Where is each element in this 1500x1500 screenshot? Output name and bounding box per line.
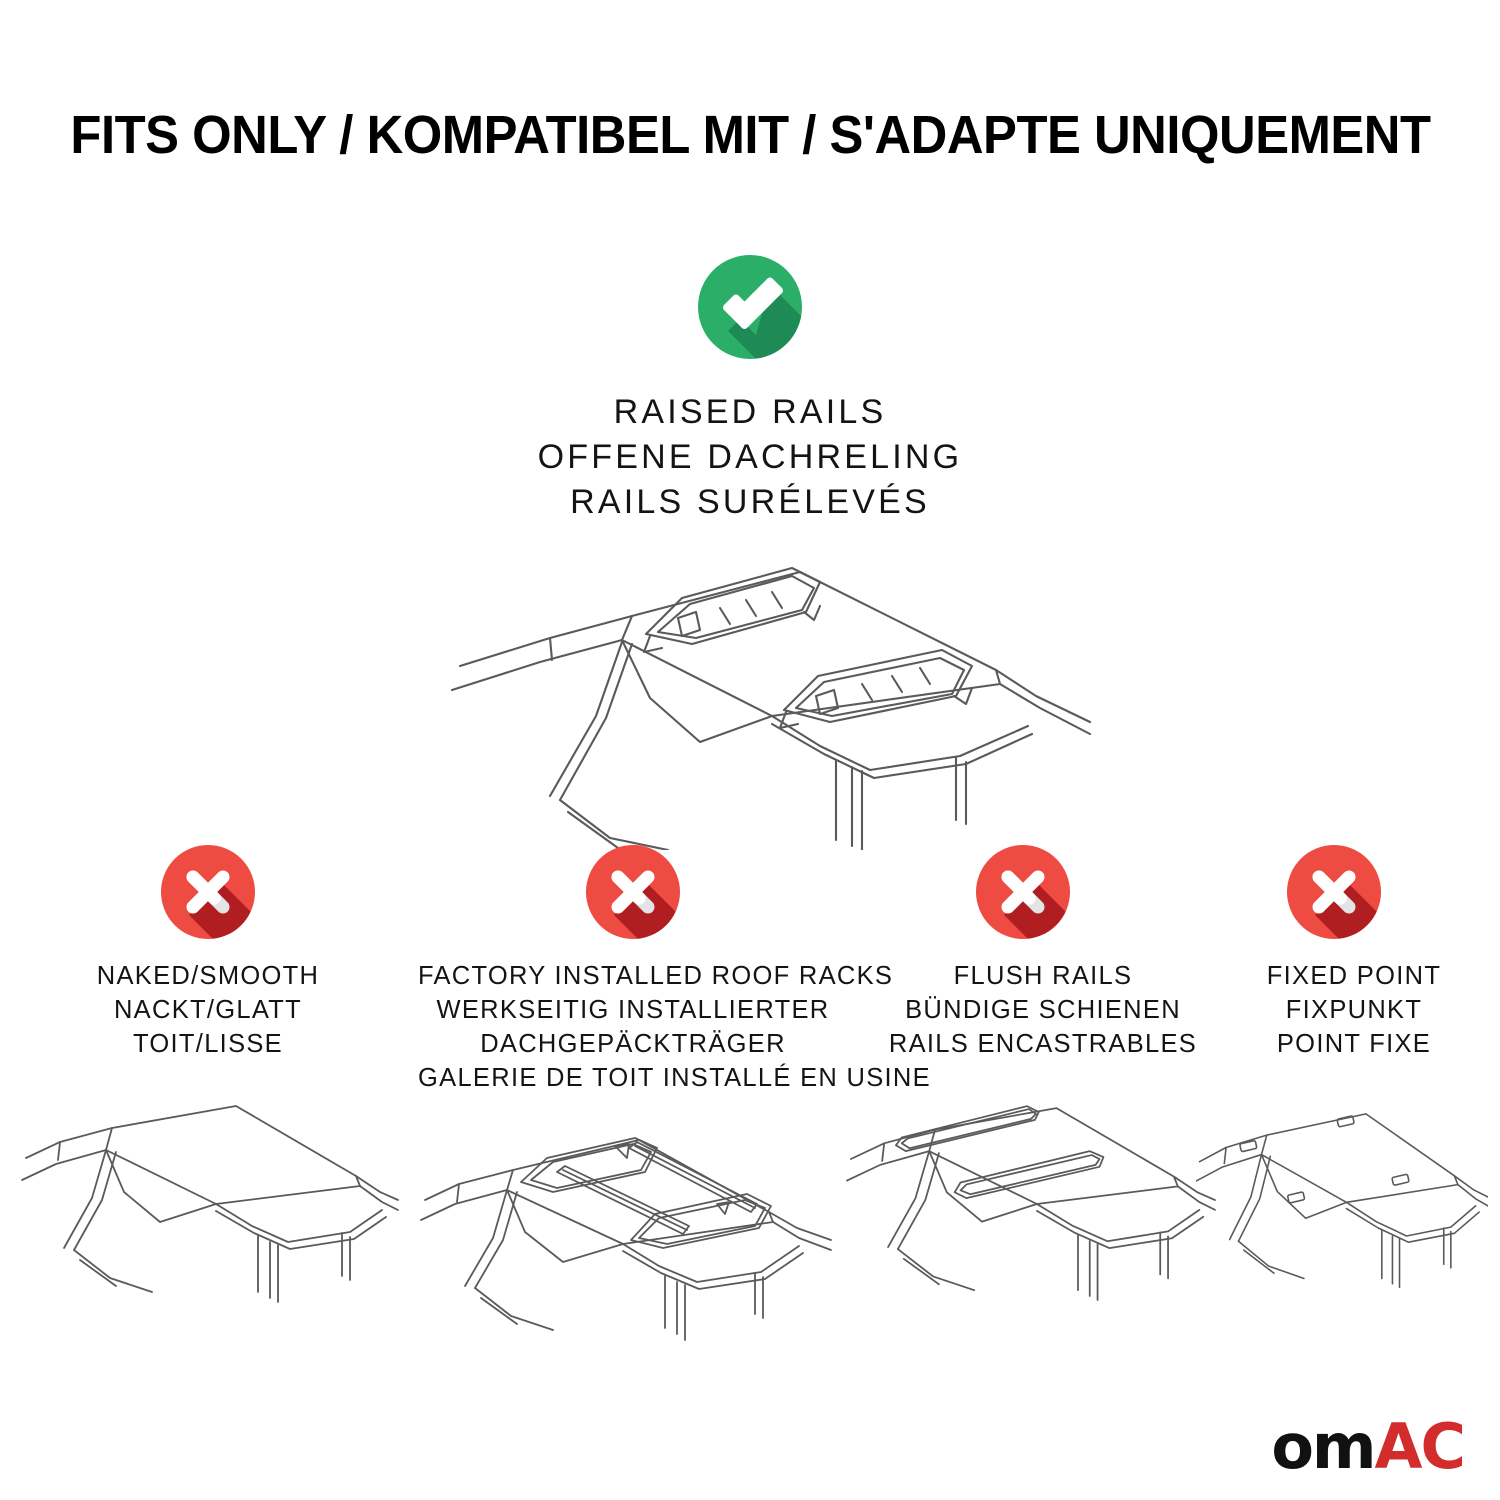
incompatible-labels: FIXED POINT FIXPUNKT POINT FIXE (1208, 960, 1500, 1062)
x-circle-icon (976, 845, 1070, 939)
incompatible-label-de: FIXPUNKT (1208, 994, 1500, 1028)
incompatible-label-fr: POINT FIXE (1208, 1028, 1500, 1062)
incompatible-label-en: NAKED/SMOOTH (18, 960, 398, 994)
incompatible-labels: FACTORY INSTALLED ROOF RACKS WERKSEITIG … (418, 960, 848, 1096)
incompatible-item-factory-roof-racks: FACTORY INSTALLED ROOF RACKS WERKSEITIG … (412, 845, 842, 1364)
car-roof-naked-smooth-illustration (20, 1080, 400, 1330)
car-roof-raised-rails-illustration (400, 520, 1100, 850)
logo-text-ac: AC (1375, 1410, 1464, 1483)
incompatible-label-de-2: DACHGEPÄCKTRÄGER (418, 1028, 848, 1062)
car-roof-flush-rails-illustration (845, 1080, 1217, 1330)
incompatible-label-de-1: WERKSEITIG INSTALLIERTER (418, 994, 848, 1028)
compatible-label-fr: RAILS SURÉLEVÉS (0, 480, 1500, 525)
incompatible-item-naked-smooth: NAKED/SMOOTH NACKT/GLATT TOIT/LISSE (20, 845, 400, 1330)
compatible-label-en: RAISED RAILS (0, 390, 1500, 435)
compatible-labels: RAISED RAILS OFFENE DACHRELING RAILS SUR… (0, 390, 1500, 525)
incompatible-section: NAKED/SMOOTH NACKT/GLATT TOIT/LISSE (0, 845, 1500, 1485)
omac-logo: omAC (1271, 1416, 1464, 1478)
incompatible-labels: FLUSH RAILS BÜNDIGE SCHIENEN RAILS ENCAS… (857, 960, 1229, 1062)
incompatible-label-de: BÜNDIGE SCHIENEN (857, 994, 1229, 1028)
page-title-text: FITS ONLY / KOMPATIBEL MIT / S'ADAPTE UN… (70, 104, 1430, 166)
page-title: FITS ONLY / KOMPATIBEL MIT / S'ADAPTE UN… (0, 104, 1500, 166)
check-circle-icon (698, 255, 802, 359)
x-circle-icon (586, 845, 680, 939)
compatible-label-de: OFFENE DACHRELING (0, 435, 1500, 480)
incompatible-label-en: FACTORY INSTALLED ROOF RACKS (418, 960, 848, 994)
car-roof-factory-roof-racks-illustration (412, 1114, 842, 1364)
incompatible-item-fixed-point: FIXED POINT FIXPUNKT POINT FIXE (1196, 845, 1488, 1330)
incompatible-item-flush-rails: FLUSH RAILS BÜNDIGE SCHIENEN RAILS ENCAS… (845, 845, 1217, 1330)
incompatible-label-fr: TOIT/LISSE (18, 1028, 398, 1062)
car-roof-fixed-point-illustration (1196, 1080, 1488, 1330)
incompatible-label-fr: RAILS ENCASTRABLES (857, 1028, 1229, 1062)
incompatible-label-en: FLUSH RAILS (857, 960, 1229, 994)
incompatible-label-de: NACKT/GLATT (18, 994, 398, 1028)
incompatible-label-en: FIXED POINT (1208, 960, 1500, 994)
logo-text-om: om (1271, 1410, 1374, 1483)
incompatible-labels: NAKED/SMOOTH NACKT/GLATT TOIT/LISSE (18, 960, 398, 1062)
incompatible-label-fr: GALERIE DE TOIT INSTALLÉ EN USINE (418, 1062, 848, 1096)
x-circle-icon (1287, 845, 1381, 939)
compatible-section: RAISED RAILS OFFENE DACHRELING RAILS SUR… (0, 255, 1500, 525)
x-circle-icon (161, 845, 255, 939)
